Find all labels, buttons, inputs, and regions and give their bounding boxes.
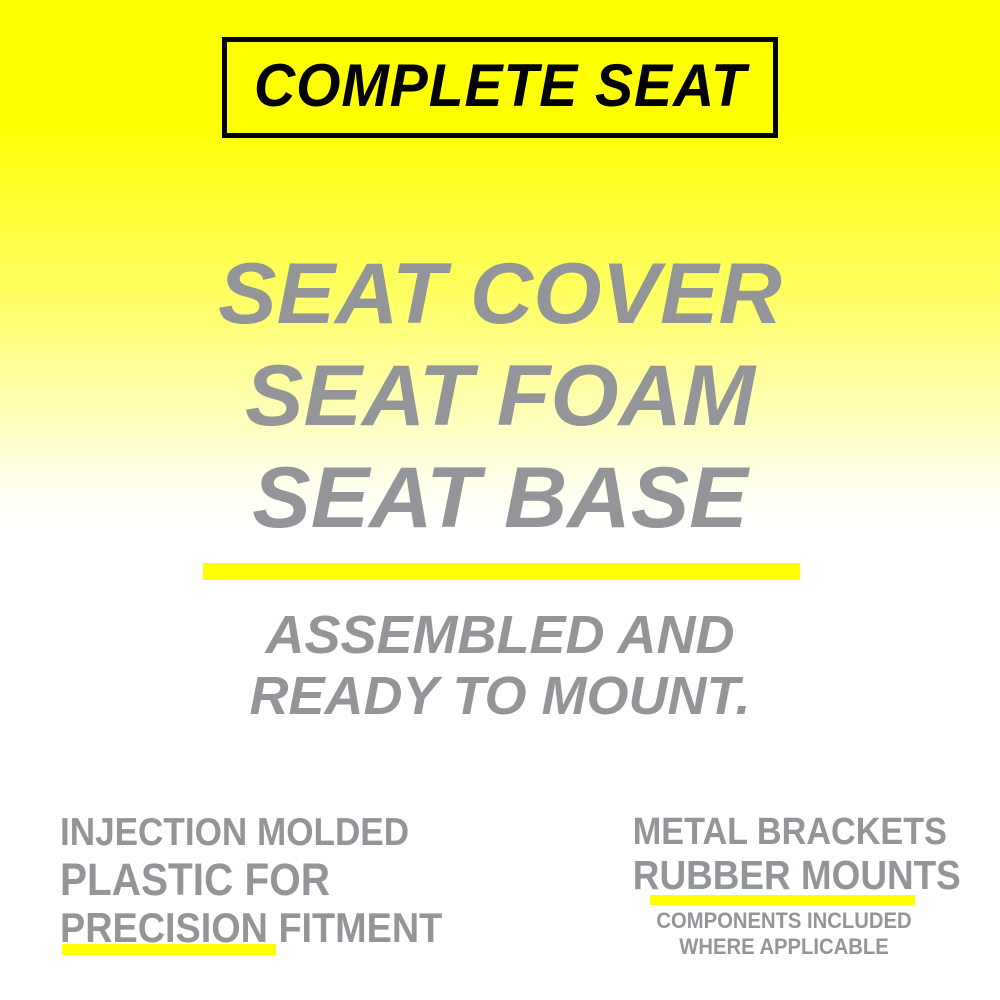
- headline-stack: SEAT COVER SEAT FOAM SEAT BASE: [0, 243, 1000, 549]
- subhead-line-1: ASSEMBLED AND: [0, 605, 1000, 666]
- headline-seat-base: SEAT BASE: [0, 447, 1000, 549]
- caption-line-1: COMPONENTS INCLUDED: [629, 908, 938, 934]
- subhead-stack: ASSEMBLED AND READY TO MOUNT.: [0, 605, 1000, 727]
- feature-left-line-3: PRECISION FITMENT: [60, 907, 442, 949]
- complete-seat-badge: COMPLETE SEAT: [222, 37, 778, 138]
- feature-left-line-2: PLASTIC FOR: [60, 857, 442, 902]
- badge-label: COMPLETE SEAT: [254, 56, 747, 120]
- headline-seat-foam: SEAT FOAM: [0, 345, 1000, 447]
- underline-precision: [62, 944, 276, 955]
- feature-block-left: INJECTION MOLDED PLASTIC FOR PRECISION F…: [60, 813, 485, 949]
- subhead-line-2: READY TO MOUNT.: [0, 666, 1000, 727]
- caption-line-2: WHERE APPLICABLE: [629, 934, 938, 960]
- product-feature-poster: COMPLETE SEAT SEAT COVER SEAT FOAM SEAT …: [0, 0, 1000, 1000]
- feature-right-line-2: RUBBER MOUNTS: [633, 855, 935, 896]
- headline-seat-cover: SEAT COVER: [0, 243, 1000, 345]
- feature-block-right: METAL BRACKETS RUBBER MOUNTS: [616, 813, 952, 896]
- feature-right-caption: COMPONENTS INCLUDED WHERE APPLICABLE: [616, 908, 952, 960]
- yellow-divider-bar: [203, 563, 800, 580]
- feature-left-line-1: INJECTION MOLDED: [60, 813, 442, 852]
- underline-rubber-mounts: [650, 895, 915, 905]
- feature-right-line-1: METAL BRACKETS: [633, 813, 935, 851]
